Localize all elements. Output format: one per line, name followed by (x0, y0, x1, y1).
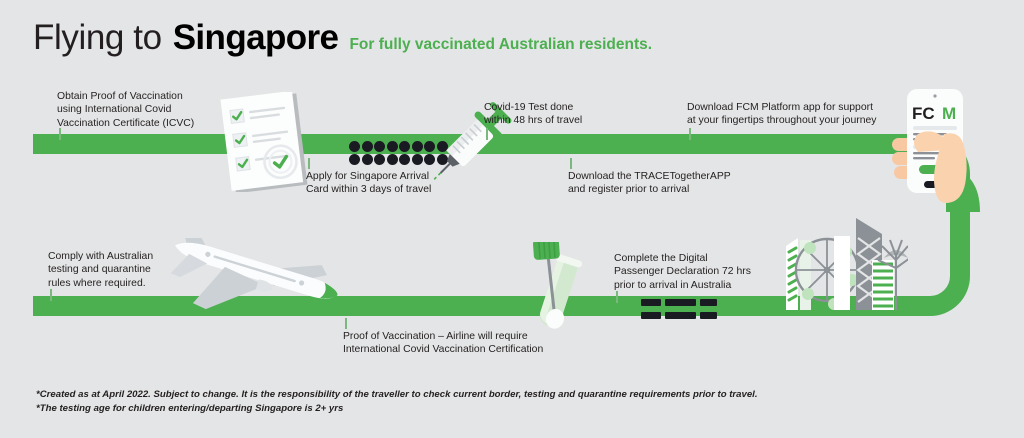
tick-proof-of-vaccination (59, 128, 61, 140)
tick-digital-passenger-declaration (616, 291, 618, 303)
callout-tracetogether-app: Download the TRACETogetherAPP and regist… (568, 170, 731, 197)
barcode-icon (641, 299, 717, 325)
callout-australian-testing-quarantine: Comply with Australian testing and quara… (48, 250, 153, 290)
tick-singapore-arrival-card (308, 158, 310, 169)
tick-airline-proof-of-vaccination (345, 318, 347, 329)
callout-singapore-arrival-card: Apply for Singapore Arrival Card within … (306, 170, 431, 197)
callout-fcm-platform-app: Download FCM Platform app for support at… (687, 101, 876, 128)
tick-australian-testing-quarantine (50, 289, 52, 301)
infographic-canvas: Flying to Singapore For fully vaccinated… (0, 0, 1024, 438)
callout-proof-of-vaccination: Obtain Proof of Vaccination using Intern… (57, 90, 194, 130)
phone-in-hand-icon: FC M (884, 82, 1000, 217)
callout-covid-test: Covid-19 Test done within 48 hrs of trav… (484, 101, 582, 128)
tick-fcm-platform-app (689, 128, 691, 140)
tick-tracetogether-app (570, 158, 572, 169)
singapore-skyline-icon (772, 198, 908, 315)
callout-airline-proof-of-vaccination: Proof of Vaccination – Airline will requ… (343, 330, 543, 357)
footer-disclaimer: *Created as at April 2022. Subject to ch… (36, 388, 758, 416)
test-tube-swab-icon (512, 242, 602, 343)
callout-digital-passenger-declaration: Complete the Digital Passenger Declarati… (614, 252, 751, 292)
fcm-logo-dark: FC (912, 104, 935, 123)
tick-covid-test (486, 128, 488, 140)
fcm-logo-green: M (942, 104, 956, 123)
airplane-icon (160, 238, 346, 343)
